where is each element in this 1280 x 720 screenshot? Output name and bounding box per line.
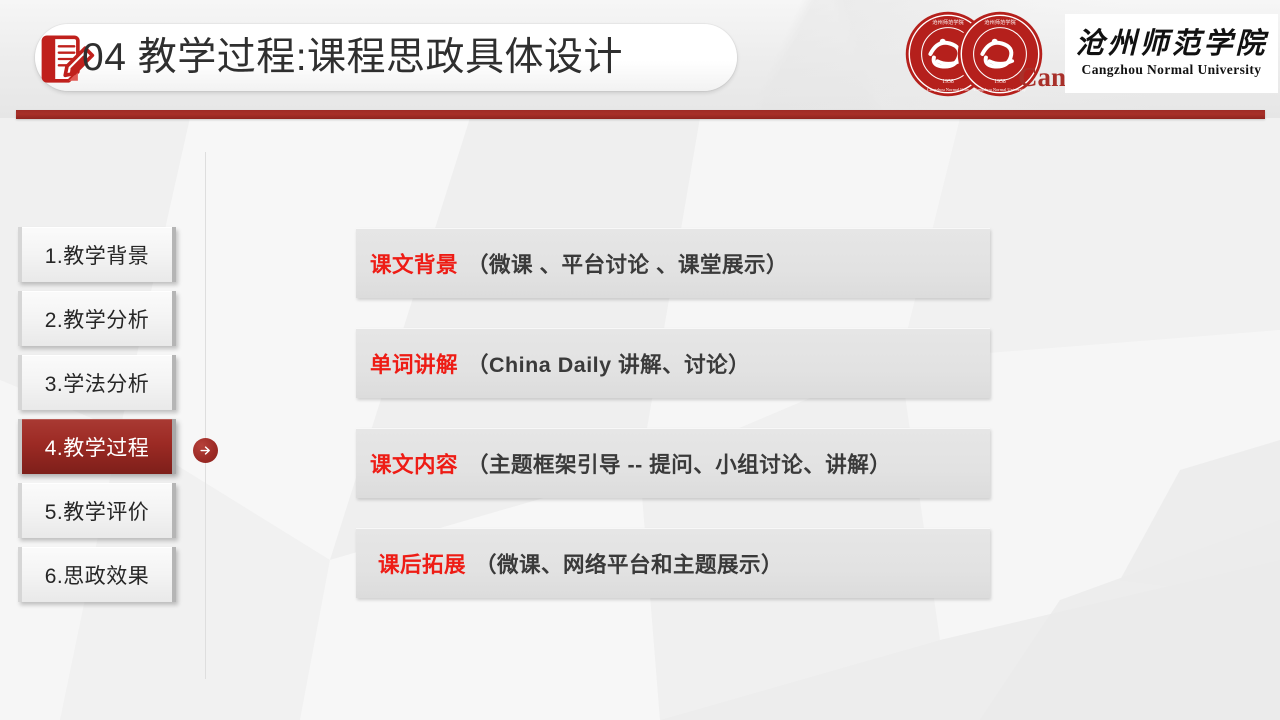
sidebar-item-label: 4.教学过程	[45, 432, 150, 462]
sidebar-item-6[interactable]: 6.思政效果	[18, 547, 176, 602]
sidebar-item-label: 5.教学评价	[45, 496, 150, 526]
svg-text:1958: 1958	[942, 79, 954, 85]
sidebar-item-4[interactable]: 4.教学过程	[18, 419, 176, 474]
sidebar-item-1[interactable]: 1.教学背景	[18, 227, 176, 282]
sidebar-item-label: 1.教学背景	[45, 240, 150, 270]
content-panel-4[interactable]: 课后拓展 （微课、网络平台和主题展示）	[356, 528, 990, 598]
university-name-box: 沧州师范学院 Cangzhou Normal University	[1065, 14, 1278, 93]
content-panel-1[interactable]: 课文背景 （微课 、平台讨论 、课堂展示）	[356, 228, 990, 298]
page-title: 04 教学过程:课程思政具体设计	[82, 24, 623, 91]
sidebar-item-2[interactable]: 2.教学分析	[18, 291, 176, 346]
university-name-cn: 沧州师范学院	[1075, 29, 1267, 59]
sidebar-nav: 1.教学背景 2.教学分析 3.学法分析 4.教学过程 5.教学评价 6.思政效…	[18, 227, 178, 611]
content-panel-2[interactable]: 单词讲解 （China Daily 讲解、讨论）	[356, 328, 990, 398]
panel-detail: （微课 、平台讨论 、课堂展示）	[467, 248, 788, 279]
panel-detail: （微课、网络平台和主题展示）	[475, 548, 783, 579]
panel-heading: 课文内容	[370, 448, 458, 479]
svg-text:1958: 1958	[994, 79, 1006, 85]
content-panel-list: 课文背景 （微课 、平台讨论 、课堂展示） 单词讲解 （China Daily …	[356, 228, 990, 628]
panel-heading: 课后拓展	[378, 548, 466, 579]
panel-detail: （主题框架引导 -- 提问、小组讨论、讲解）	[467, 448, 891, 479]
svg-text:沧州师范学院: 沧州师范学院	[984, 18, 1016, 26]
sidebar-item-5[interactable]: 5.教学评价	[18, 483, 176, 538]
sidebar-item-label: 6.思政效果	[45, 560, 150, 590]
vertical-divider	[205, 152, 206, 679]
sidebar-item-label: 2.教学分析	[45, 304, 150, 334]
sidebar-item-label: 3.学法分析	[45, 368, 150, 398]
panel-heading: 课文背景	[370, 248, 458, 279]
content-panel-3[interactable]: 课文内容 （主题框架引导 -- 提问、小组讨论、讲解）	[356, 428, 990, 498]
arrow-right-glyph	[198, 443, 213, 458]
header-divider-rule	[16, 110, 1265, 119]
university-logo-group: 1958 Cangzhou Normal Univ 沧州师范学院 1958 Ca…	[900, 8, 1280, 108]
panel-detail: （China Daily 讲解、讨论）	[467, 348, 750, 379]
university-name-en: Cangzhou Normal University	[1082, 62, 1262, 78]
panel-heading: 单词讲解	[370, 348, 458, 379]
sidebar-item-3[interactable]: 3.学法分析	[18, 355, 176, 410]
arrow-right-icon[interactable]	[193, 438, 218, 463]
